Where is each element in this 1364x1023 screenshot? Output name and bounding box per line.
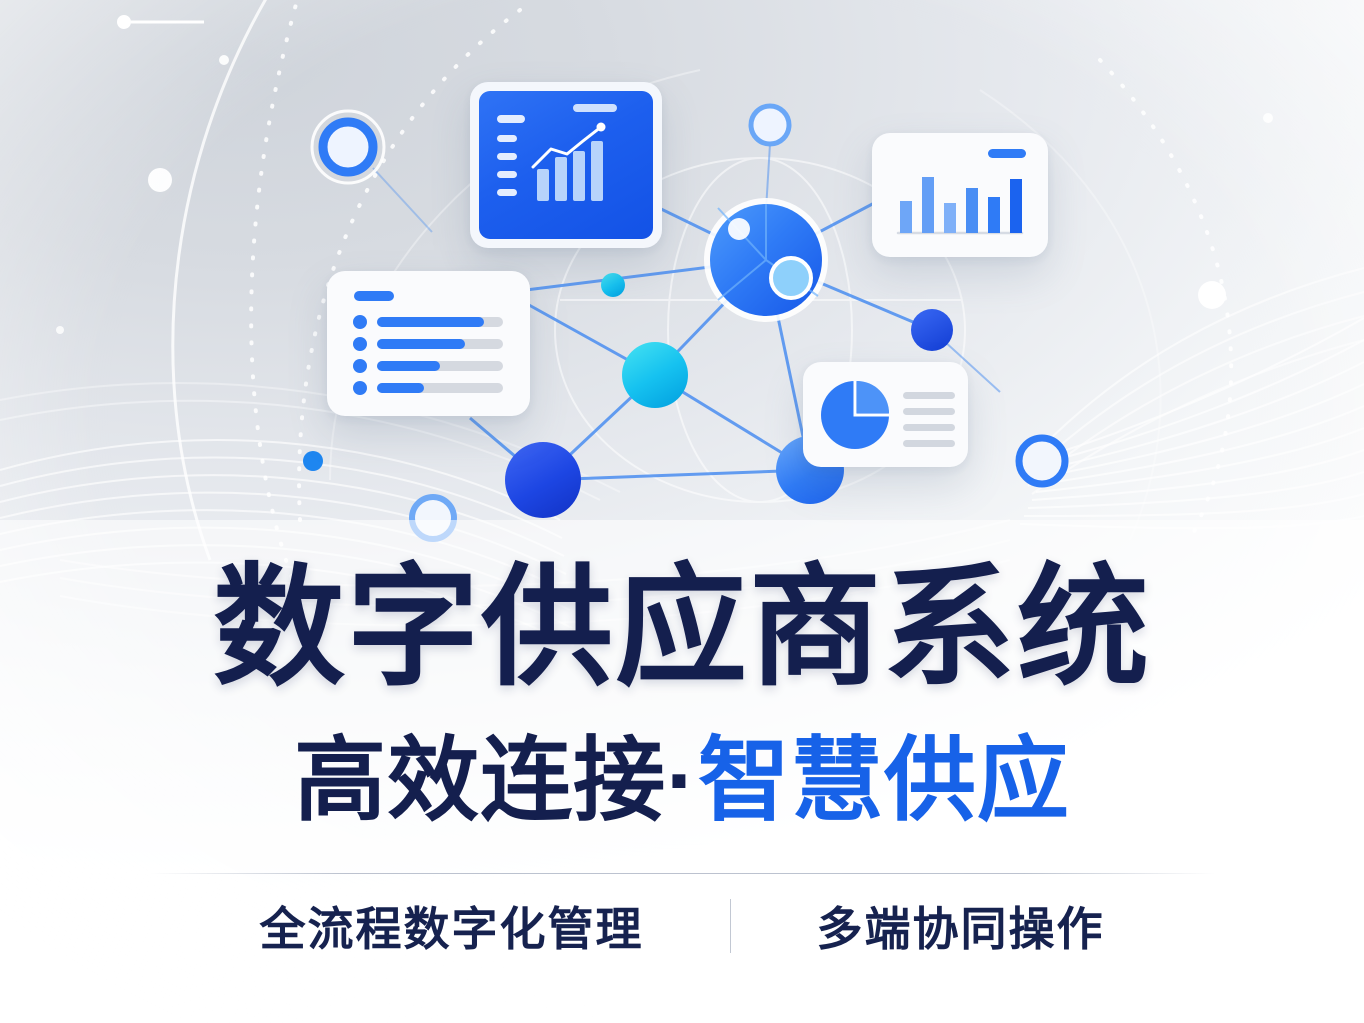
- progress-list-graphic: [327, 271, 530, 416]
- poster-canvas: 数字供应商系统 高效连接·智慧供应 全流程数字化管理 多端协同操作: [0, 0, 1364, 1023]
- dashboard-chart: [479, 91, 635, 221]
- subtitle-accent: 智慧供应: [698, 730, 1070, 832]
- dashboard-header-pill: [573, 104, 617, 112]
- pie-chart: [821, 381, 889, 449]
- subtitle-lead: 高效连接: [294, 730, 666, 832]
- dashboard-screen: [479, 91, 653, 239]
- tagline-row: 全流程数字化管理 多端协同操作: [0, 893, 1364, 959]
- list-header-pill: [354, 291, 394, 301]
- analytics-dashboard-card[interactable]: [470, 82, 662, 248]
- pie-chart-card[interactable]: [803, 362, 968, 467]
- page-title: 数字供应商系统: [0, 562, 1364, 694]
- bar-chart-card[interactable]: [872, 133, 1048, 257]
- list-row-fills: [377, 317, 484, 393]
- pie-card-text-lines: [903, 392, 955, 447]
- tagline-divider: [730, 899, 731, 953]
- page-subtitle: 高效连接·智慧供应: [0, 735, 1364, 827]
- list-row-tracks: [377, 317, 503, 393]
- bar-card-accent-pill: [988, 149, 1026, 158]
- bar-card-bars: [900, 177, 1022, 233]
- subtitle-separator: ·: [666, 730, 698, 832]
- progress-list-card[interactable]: [327, 271, 530, 416]
- dashboard-sidebar-lines: [497, 115, 525, 196]
- list-row-bullets: [353, 315, 367, 395]
- bar-chart-graphic: [872, 133, 1048, 257]
- dashboard-trend-endpoint: [597, 123, 606, 132]
- tagline-right: 多端协同操作: [817, 893, 1105, 959]
- tagline-left: 全流程数字化管理: [260, 893, 644, 959]
- background-decoration: [0, 0, 1364, 1023]
- horizontal-divider: [150, 873, 1215, 874]
- pie-chart-graphic: [803, 362, 968, 467]
